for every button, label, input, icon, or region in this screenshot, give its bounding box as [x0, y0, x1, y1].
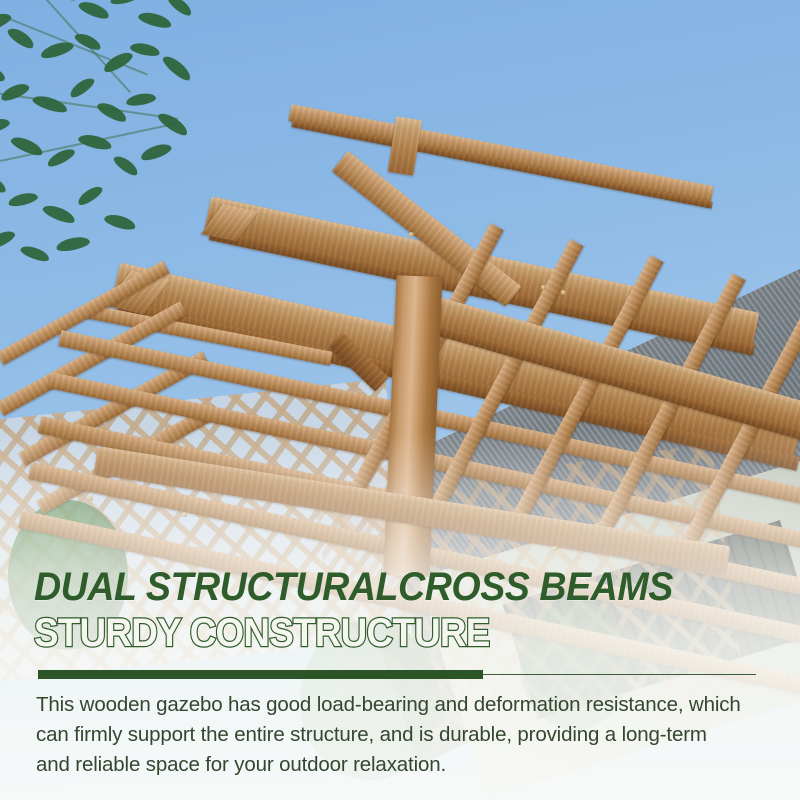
headline: DUAL STRUCTURALCROSS BEAMS	[34, 567, 673, 607]
text-overlay: DUAL STRUCTURALCROSS BEAMS STURDY CONSTR…	[0, 0, 800, 800]
subheadline: STURDY CONSTRUCTURE	[34, 613, 490, 653]
product-feature-banner: DUAL STRUCTURALCROSS BEAMS STURDY CONSTR…	[0, 0, 800, 800]
divider-thick-segment	[38, 670, 483, 679]
body-text: This wooden gazebo has good load-bearing…	[36, 690, 776, 780]
divider	[38, 670, 756, 679]
body-line: and reliable space for your outdoor rela…	[36, 750, 776, 780]
divider-thin-segment	[483, 674, 756, 676]
body-line: This wooden gazebo has good load-bearing…	[36, 690, 776, 720]
body-line: can firmly support the entire structure,…	[36, 720, 776, 750]
